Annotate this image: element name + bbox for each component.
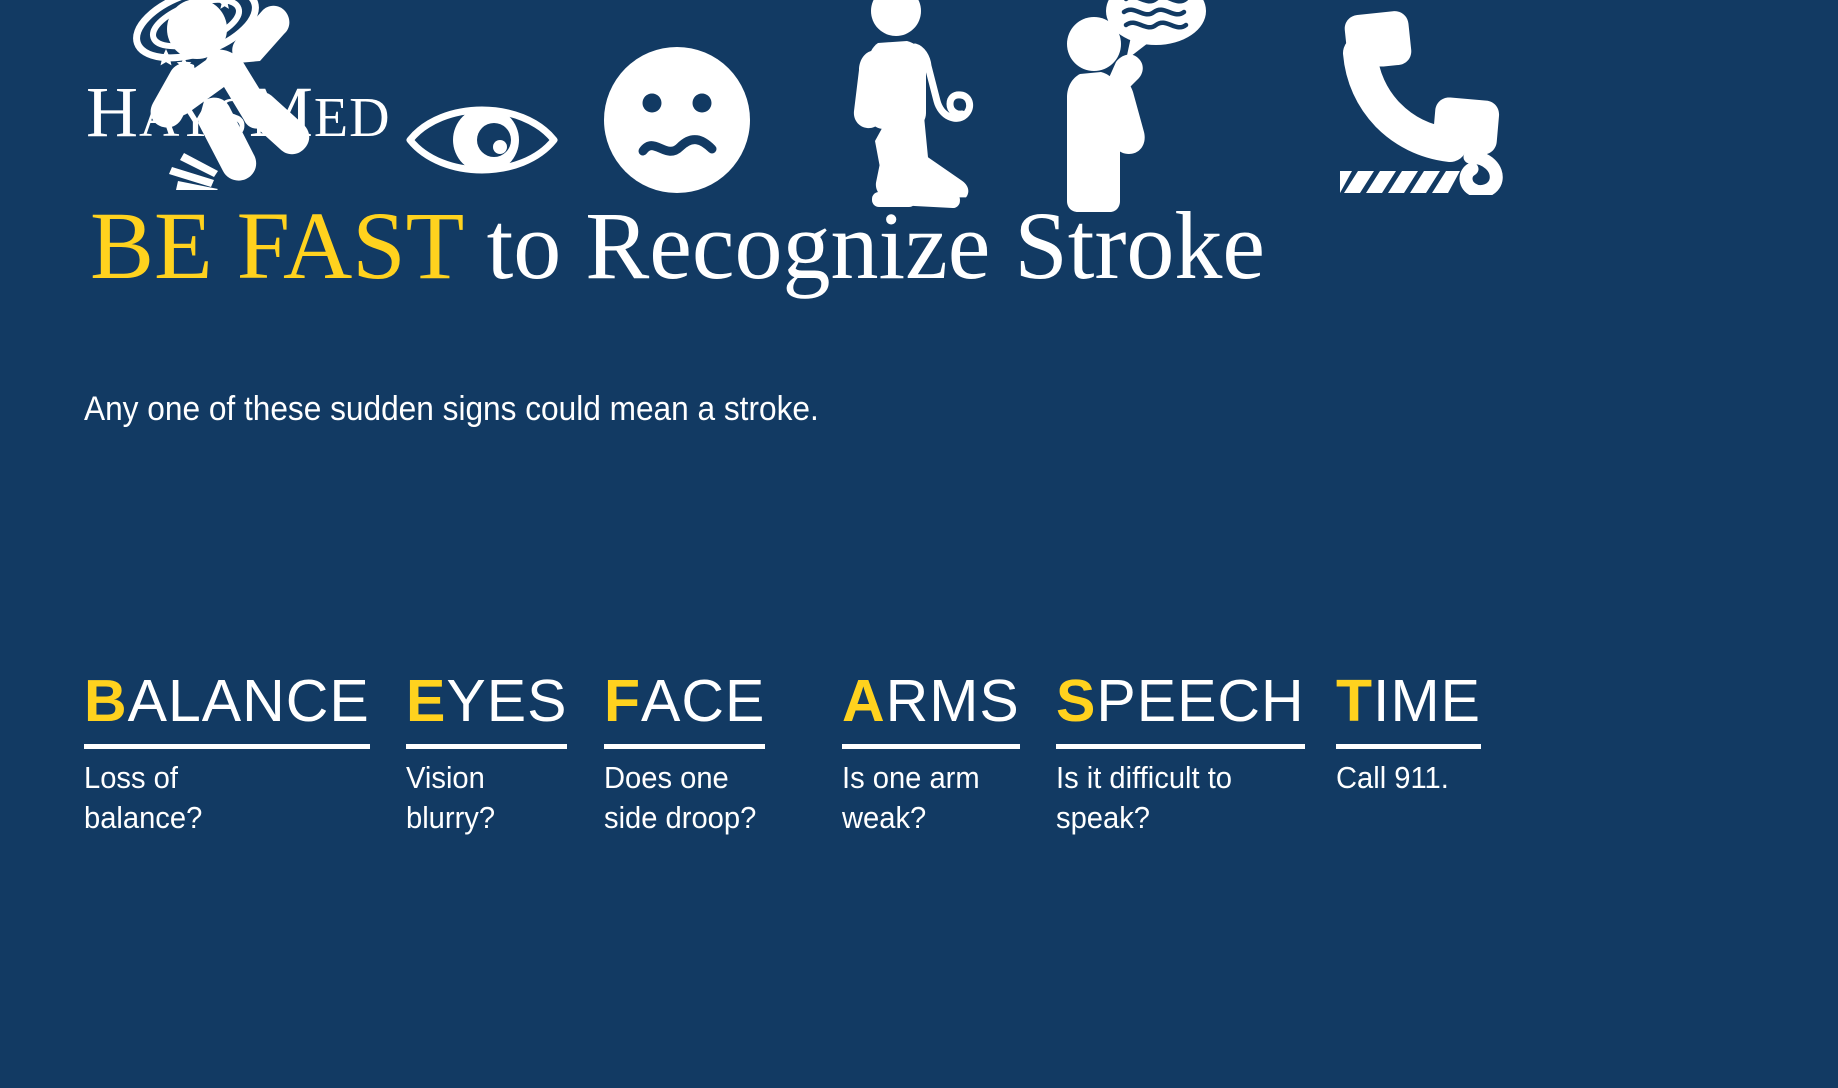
label-rest: ACE <box>641 668 765 734</box>
column-description-arms: Is one arm weak? <box>842 758 980 839</box>
label-rest: YES <box>446 668 567 734</box>
label-first-letter: E <box>406 668 446 734</box>
label-rest: RMS <box>886 668 1020 734</box>
eye-icon <box>402 90 562 190</box>
label-underline <box>842 744 1020 749</box>
label-row-face: FACE <box>604 672 765 749</box>
label-row-speech: SPEECH <box>1056 672 1305 749</box>
label-row-time: TIME <box>1336 672 1481 749</box>
label-row-arms: ARMS <box>842 672 1020 749</box>
person-speech-bubble-icon <box>1056 0 1216 212</box>
column-label-face: FACE <box>604 672 765 731</box>
logo-letters-ed: ED <box>314 87 391 149</box>
label-first-letter: A <box>842 668 886 734</box>
label-rest: PEECH <box>1096 668 1304 734</box>
label-row-balance: BALANCE <box>84 672 370 749</box>
column-label-arms: ARMS <box>842 672 1020 731</box>
column-label-speech: SPEECH <box>1056 672 1305 731</box>
label-rest: ALANCE <box>128 668 370 734</box>
walking-person-weak-arm-icon <box>842 0 982 210</box>
label-first-letter: B <box>84 668 128 734</box>
falling-person-dizzy-icon <box>118 0 318 190</box>
column-description-time: Call 911. <box>1336 758 1449 798</box>
label-rest: IME <box>1373 668 1481 734</box>
label-first-letter: F <box>604 668 641 734</box>
column-label-balance: BALANCE <box>84 672 370 731</box>
drooping-face-icon <box>602 45 752 195</box>
label-underline <box>406 744 567 749</box>
column-description-balance: Loss of balance? <box>84 758 202 839</box>
telephone-handset-icon <box>1338 5 1508 195</box>
infographic-canvas: HAYSMED BE FAST to Recognize Stroke Any … <box>0 0 1838 1088</box>
column-description-eyes: Vision blurry? <box>406 758 495 839</box>
headline-accent: BE FAST <box>90 192 463 299</box>
column-description-speech: Is it difficult to speak? <box>1056 758 1232 839</box>
column-description-face: Does one side droop? <box>604 758 756 839</box>
label-row-eyes: EYES <box>406 672 567 749</box>
label-first-letter: T <box>1336 668 1373 734</box>
page-subtitle: Any one of these sudden signs could mean… <box>84 390 819 429</box>
label-first-letter: S <box>1056 668 1096 734</box>
column-label-time: TIME <box>1336 672 1481 731</box>
be-fast-columns: BALANCE Loss of balance? EYES Vision blu… <box>84 440 1784 940</box>
column-label-eyes: EYES <box>406 672 567 731</box>
label-underline <box>604 744 765 749</box>
label-underline <box>1336 744 1481 749</box>
label-underline <box>1056 744 1305 749</box>
label-underline <box>84 744 370 749</box>
